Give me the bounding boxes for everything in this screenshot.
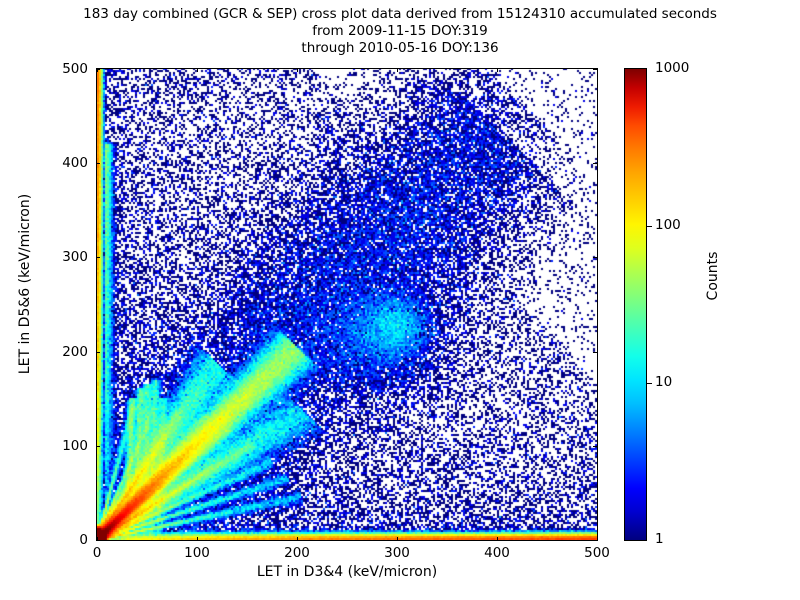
colorbar-tick-label: 1: [655, 531, 664, 547]
x-tick-label: 400: [467, 545, 527, 561]
figure-root: 183 day combined (GCR & SEP) cross plot …: [0, 0, 800, 600]
y-tick-right: [593, 352, 597, 353]
x-tick: [397, 537, 398, 541]
figure-title: 183 day combined (GCR & SEP) cross plot …: [0, 6, 800, 57]
x-tick: [197, 537, 198, 541]
y-tick: [96, 163, 100, 164]
y-tick-label: 100: [36, 438, 88, 454]
y-tick-label: 200: [36, 344, 88, 360]
x-tick-top: [297, 68, 298, 72]
y-tick-label: 400: [36, 155, 88, 171]
y-tick-right: [593, 69, 597, 70]
x-tick: [497, 537, 498, 541]
x-tick-top: [197, 68, 198, 72]
colorbar-tick-label: 10: [655, 374, 672, 390]
y-tick: [96, 257, 100, 258]
title-line-3: through 2010-05-16 DOY:136: [0, 40, 800, 57]
colorbar-tick-label: 100: [655, 217, 681, 233]
y-tick-label-wrap: 400: [36, 155, 88, 171]
y-tick-label-wrap: 200: [36, 344, 88, 360]
colorbar-tick: [647, 383, 652, 384]
colorbar-label: Counts: [705, 196, 721, 356]
x-tick-top: [497, 68, 498, 72]
y-tick: [96, 352, 100, 353]
x-tick: [297, 537, 298, 541]
y-tick-label-wrap: 0: [36, 532, 88, 548]
x-tick-label: 300: [367, 545, 427, 561]
x-tick-label: 500: [567, 545, 627, 561]
title-line-2: from 2009-11-15 DOY:319: [0, 23, 800, 40]
x-tick-label: 200: [267, 545, 327, 561]
y-tick-right: [593, 446, 597, 447]
y-tick-right: [593, 257, 597, 258]
x-axis-label: LET in D3&4 (keV/micron): [96, 564, 598, 580]
y-tick-label: 500: [36, 61, 88, 77]
y-tick: [96, 540, 100, 541]
y-tick-right: [593, 540, 597, 541]
y-tick: [96, 446, 100, 447]
colorbar-tick-label: 1000: [655, 60, 689, 76]
y-tick-label: 300: [36, 249, 88, 265]
y-tick: [96, 69, 100, 70]
y-tick-label-wrap: 100: [36, 438, 88, 454]
plot-area: [96, 68, 598, 541]
x-tick-top: [397, 68, 398, 72]
y-tick-right: [593, 163, 597, 164]
x-tick-top: [597, 68, 598, 72]
y-tick-label-wrap: 300: [36, 249, 88, 265]
title-line-1: 183 day combined (GCR & SEP) cross plot …: [0, 6, 800, 23]
x-tick-label: 100: [167, 545, 227, 561]
colorbar-tick: [647, 226, 652, 227]
density-heatmap: [97, 69, 597, 540]
y-tick-label-wrap: 500: [36, 61, 88, 77]
y-tick-label: 0: [36, 532, 88, 548]
colorbar: [624, 68, 647, 541]
y-axis-label: LET in D5&6 (keV/micron): [17, 114, 33, 454]
x-tick: [597, 537, 598, 541]
